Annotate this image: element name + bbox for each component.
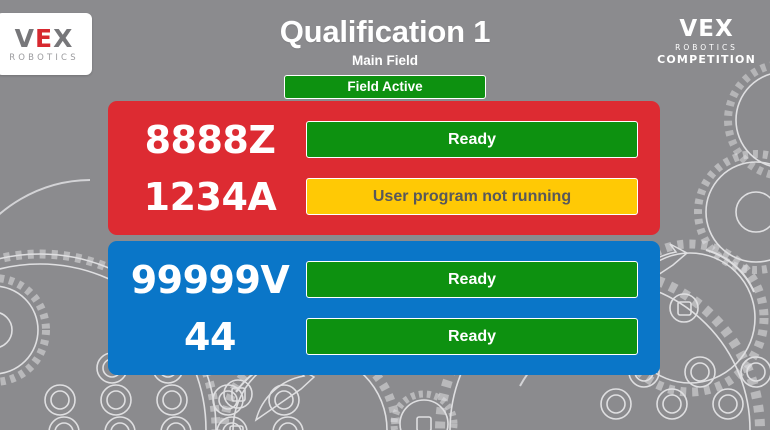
blue-alliance-panel: 99999V Ready 44 Ready (108, 241, 660, 375)
team-status-badge: Ready (306, 261, 638, 298)
team-number: 44 (130, 318, 290, 356)
header: VEX ROBOTICS Qualification 1 Main Field … (0, 0, 770, 100)
team-status-badge: User program not running (306, 178, 638, 215)
table-row[interactable]: 8888Z Ready (130, 116, 638, 163)
match-title-block: Qualification 1 Main Field Field Active (0, 0, 770, 99)
team-number: 99999V (130, 261, 290, 299)
red-alliance-panel: 8888Z Ready 1234A User program not runni… (108, 101, 660, 235)
team-number: 1234A (130, 178, 290, 216)
field-name-label: Main Field (0, 53, 770, 68)
vrc-letter-v: V (679, 16, 698, 42)
team-status-badge: Ready (306, 318, 638, 355)
vrc-vex-wordmark: VEX (657, 18, 756, 41)
table-row[interactable]: 1234A User program not running (130, 173, 638, 220)
vrc-logo-subtitle: ROBOTICS (657, 44, 756, 52)
table-row[interactable]: 99999V Ready (130, 256, 638, 303)
table-row[interactable]: 44 Ready (130, 313, 638, 360)
team-status-badge: Ready (306, 121, 638, 158)
team-number: 8888Z (130, 121, 290, 159)
status-badge: Field Active (284, 75, 486, 99)
vrc-competition-word: COMPETITION (657, 54, 756, 65)
page-title: Qualification 1 (0, 16, 770, 49)
vrc-letter-e: E (698, 16, 715, 42)
vrc-competition-logo: VEX ROBOTICS COMPETITION (657, 18, 756, 65)
vrc-letter-x: X (715, 16, 734, 42)
